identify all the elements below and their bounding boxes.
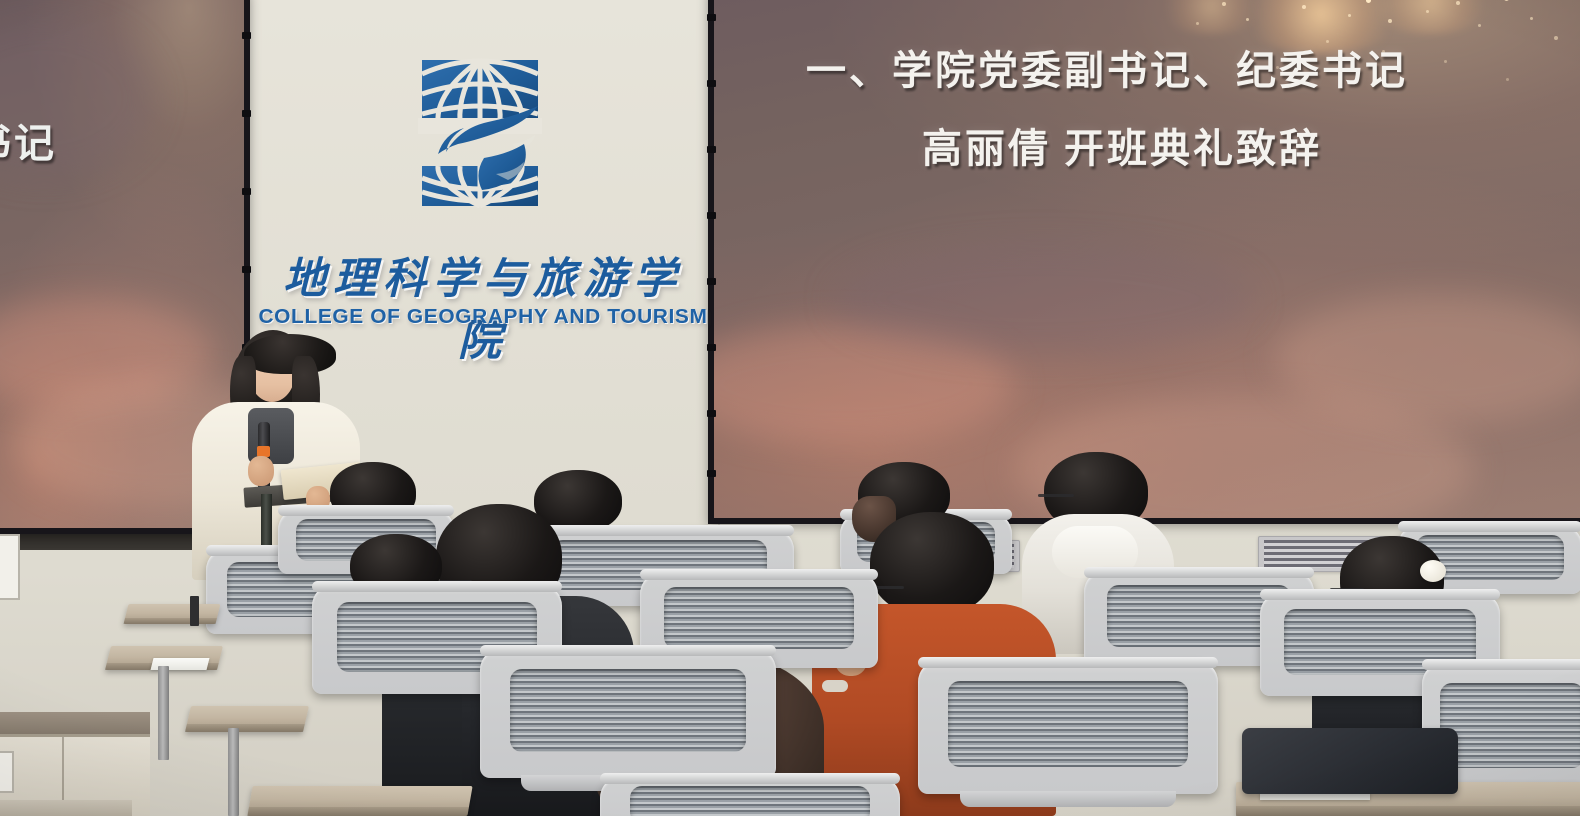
speaker-inner-top <box>248 408 294 464</box>
projection-screen-main: 一、学院党委副书记、纪委书记 高丽倩 开班典礼致辞 <box>708 0 1580 524</box>
floor-strip <box>0 800 132 816</box>
screen-tension-tab <box>707 410 716 417</box>
slide-text-main-line1: 一、学院党委副书记、纪委书记 <box>806 38 1408 96</box>
wall-notice-frame <box>0 534 20 600</box>
screen-tension-tab <box>707 80 716 87</box>
projection-screen-main-surface: 一、学院党委副书记、纪委书记 高丽倩 开班典礼致辞 <box>714 0 1580 518</box>
chair-rail <box>1084 567 1314 578</box>
chair-rail <box>1260 589 1500 600</box>
chair-rail <box>600 773 900 784</box>
laptop-bag-on-desk <box>1242 728 1458 794</box>
chair-rail <box>918 657 1218 668</box>
college-wall-logo: 地理科学与旅游学院 COLLEGE OF GEOGRAPHY AND TOURI… <box>258 22 708 352</box>
chair-back-slats <box>1440 683 1580 768</box>
cabinet-label <box>0 751 14 793</box>
chair-back-slats <box>948 681 1188 767</box>
screen-tension-tab <box>707 14 716 21</box>
wall-wood-strip <box>0 712 150 734</box>
tiered-desk-front <box>247 786 472 816</box>
chair-back-slats <box>510 669 747 752</box>
chair-back-slats <box>630 786 870 816</box>
lecture-chair[interactable] <box>480 648 776 778</box>
slide-text-left-line1: 委书记 <box>0 111 57 169</box>
screen-tension-tab <box>242 266 251 273</box>
speaker-hand-left <box>248 456 274 486</box>
screen-tension-tab <box>242 32 251 39</box>
desk-post <box>190 596 199 626</box>
eyeglasses-icon <box>1038 494 1074 497</box>
slide-cloud <box>834 244 1254 354</box>
globe-dolphin-emblem-icon <box>380 26 580 226</box>
desk-leg <box>228 728 239 816</box>
screen-tension-tab <box>707 146 716 153</box>
tiered-desk-top <box>124 604 221 624</box>
chair-rail <box>640 569 878 580</box>
screen-tension-tab <box>707 470 716 477</box>
screen-tension-tab <box>242 110 251 117</box>
chair-back-slats <box>664 587 854 648</box>
chair-base <box>960 791 1176 807</box>
speaker-fringe <box>244 334 336 374</box>
slide-text-main-line2: 高丽倩 开班典礼致辞 <box>922 116 1322 174</box>
wrist-band <box>822 680 848 692</box>
lecture-chair[interactable] <box>600 776 900 816</box>
attendee-head <box>870 512 994 616</box>
chair-rail <box>1422 659 1580 670</box>
tiered-desk <box>185 706 309 732</box>
screen-tension-tab <box>242 188 251 195</box>
screen-tension-tab <box>707 278 716 285</box>
hair-clip <box>1420 560 1446 582</box>
screen-tension-tab <box>707 344 716 351</box>
chair-rail <box>480 645 776 656</box>
desk-leg <box>158 666 169 760</box>
chair-rail <box>312 581 562 592</box>
chair-rail <box>1398 521 1580 532</box>
lecture-hall-photo: 委书记 <box>0 0 1580 816</box>
screen-tension-tab <box>707 212 716 219</box>
college-logo-english-name: COLLEGE OF GEOGRAPHY AND TOURISM <box>258 305 709 329</box>
lecture-chair[interactable] <box>918 660 1218 794</box>
